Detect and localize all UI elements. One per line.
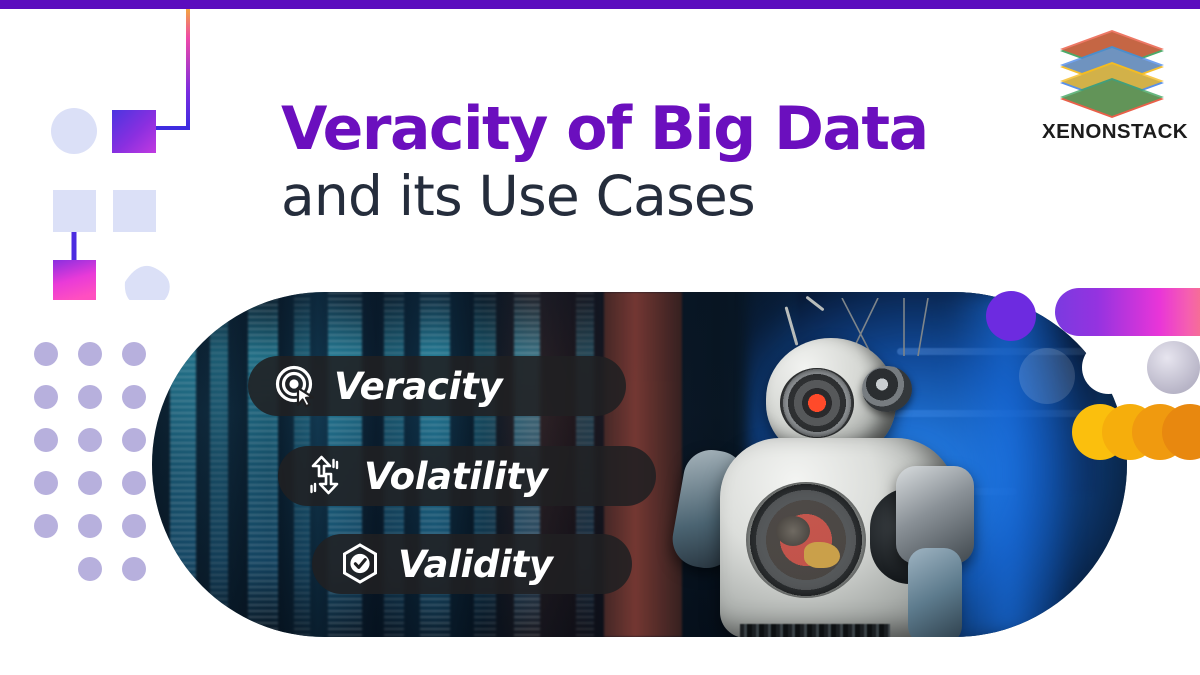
decor-dot [122, 557, 146, 581]
pill-volatility[interactable]: Volatility [278, 446, 656, 506]
decor-dot [34, 342, 58, 366]
up-down-arrows-icon [304, 454, 348, 498]
hexagon-check-icon [338, 542, 382, 586]
node-square-light-2 [113, 190, 156, 232]
xenonstack-stack-icon [1052, 28, 1172, 120]
decor-dot [78, 428, 102, 452]
decor-dot [122, 428, 146, 452]
decor-soft-circle [1019, 348, 1075, 404]
decor-purple-circle [986, 291, 1036, 341]
top-accent-bar [0, 0, 1200, 9]
decor-dot [122, 385, 146, 409]
brand-name: XENONSTACK [1040, 120, 1190, 144]
decor-dot [122, 514, 146, 538]
pill-label: Veracity [334, 365, 502, 408]
robot-illustration [682, 298, 1012, 637]
decor-dot [34, 428, 58, 452]
decor-gradient-pill [1055, 288, 1200, 336]
robot-eye [780, 368, 854, 438]
robot-chest-port [746, 482, 866, 598]
page-title: Veracity of Big Data and its Use Cases [281, 99, 928, 226]
title-line-1: Veracity of Big Data [281, 99, 928, 160]
title-line-2: and its Use Cases [281, 168, 928, 226]
pill-validity[interactable]: Validity [312, 534, 632, 594]
robot-lens [862, 366, 912, 412]
decor-dot [34, 385, 58, 409]
decor-dot [78, 514, 102, 538]
pill-label: Volatility [364, 455, 548, 498]
decor-dot [78, 471, 102, 495]
decor-white-circle [1082, 341, 1135, 394]
pill-veracity[interactable]: Veracity [248, 356, 626, 416]
decor-dot [34, 471, 58, 495]
decorative-node-graph [0, 0, 230, 300]
poster-stage: Veracity Volatility Validity Veracity of… [0, 0, 1200, 675]
decor-dot [78, 557, 102, 581]
decor-grey-circle [1147, 341, 1200, 394]
decor-dot [122, 471, 146, 495]
node-circle [51, 108, 97, 154]
decor-dot [78, 385, 102, 409]
node-square-light-1 [53, 190, 96, 232]
node-square-magenta [53, 260, 96, 300]
node-square-purple [112, 110, 156, 153]
decorative-dot-grid [34, 342, 164, 592]
decor-dot [78, 342, 102, 366]
decor-dot [122, 342, 146, 366]
brand-logo[interactable]: XENONSTACK [1040, 28, 1190, 158]
target-cursor-icon [274, 364, 318, 408]
pill-label: Validity [398, 543, 553, 586]
decor-dot [34, 514, 58, 538]
